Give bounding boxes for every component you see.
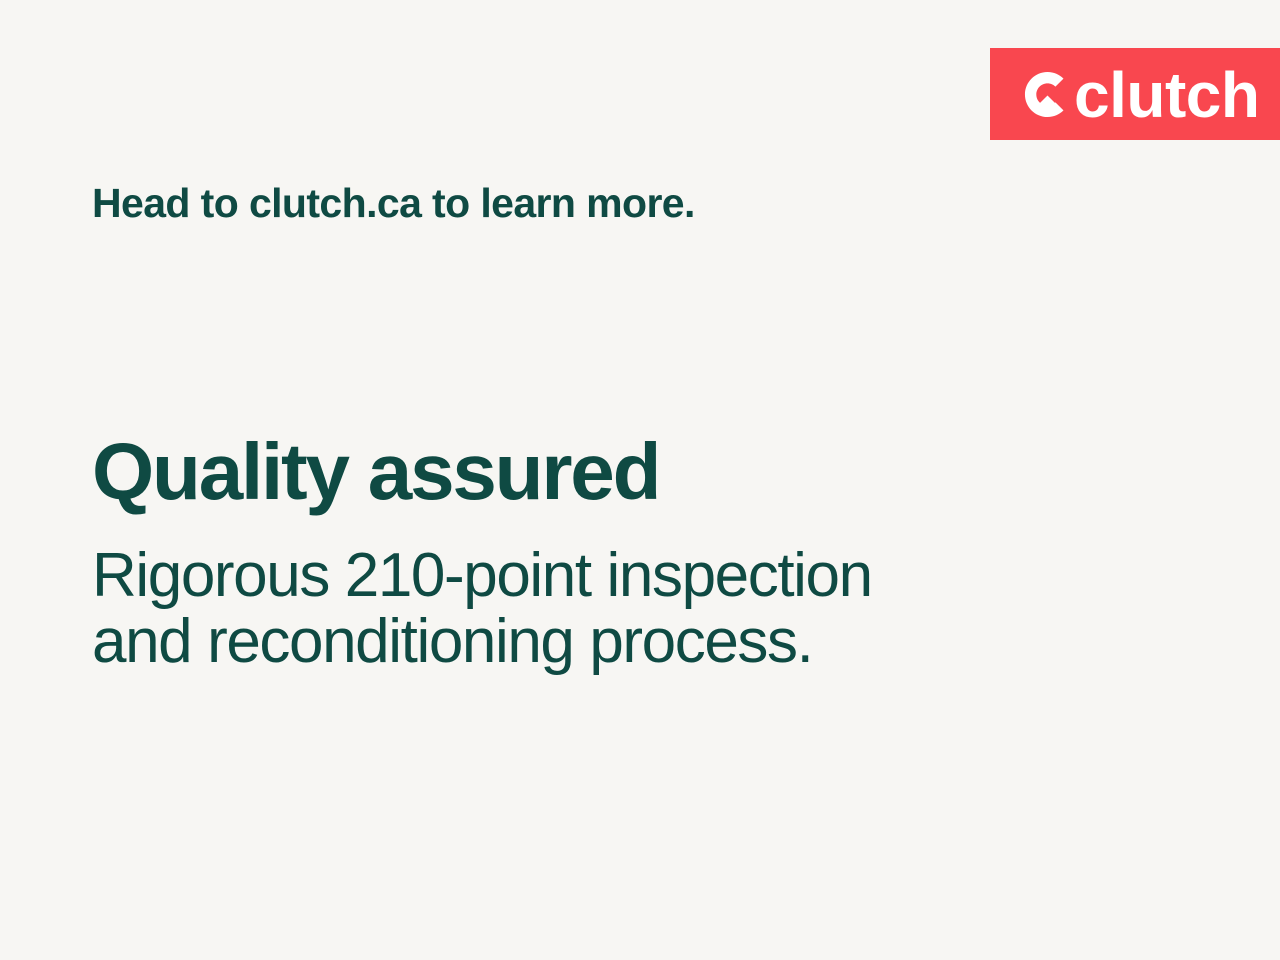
tagline: Head to clutch.ca to learn more. <box>92 180 695 227</box>
clutch-wordmark: clutch <box>1074 63 1259 127</box>
clutch-logo[interactable]: clutch <box>1024 62 1259 126</box>
page-title: Quality assured <box>92 432 659 512</box>
body-copy-line: Rigorous 210-point inspection <box>92 543 872 609</box>
body-copy-line: and reconditioning process. <box>92 609 872 675</box>
promo-slide: clutch Head to clutch.ca to learn more. … <box>0 0 1280 960</box>
brand-banner: clutch <box>990 48 1280 140</box>
body-copy: Rigorous 210-point inspection and recond… <box>92 543 872 674</box>
clutch-c-mark-icon <box>1024 71 1071 118</box>
